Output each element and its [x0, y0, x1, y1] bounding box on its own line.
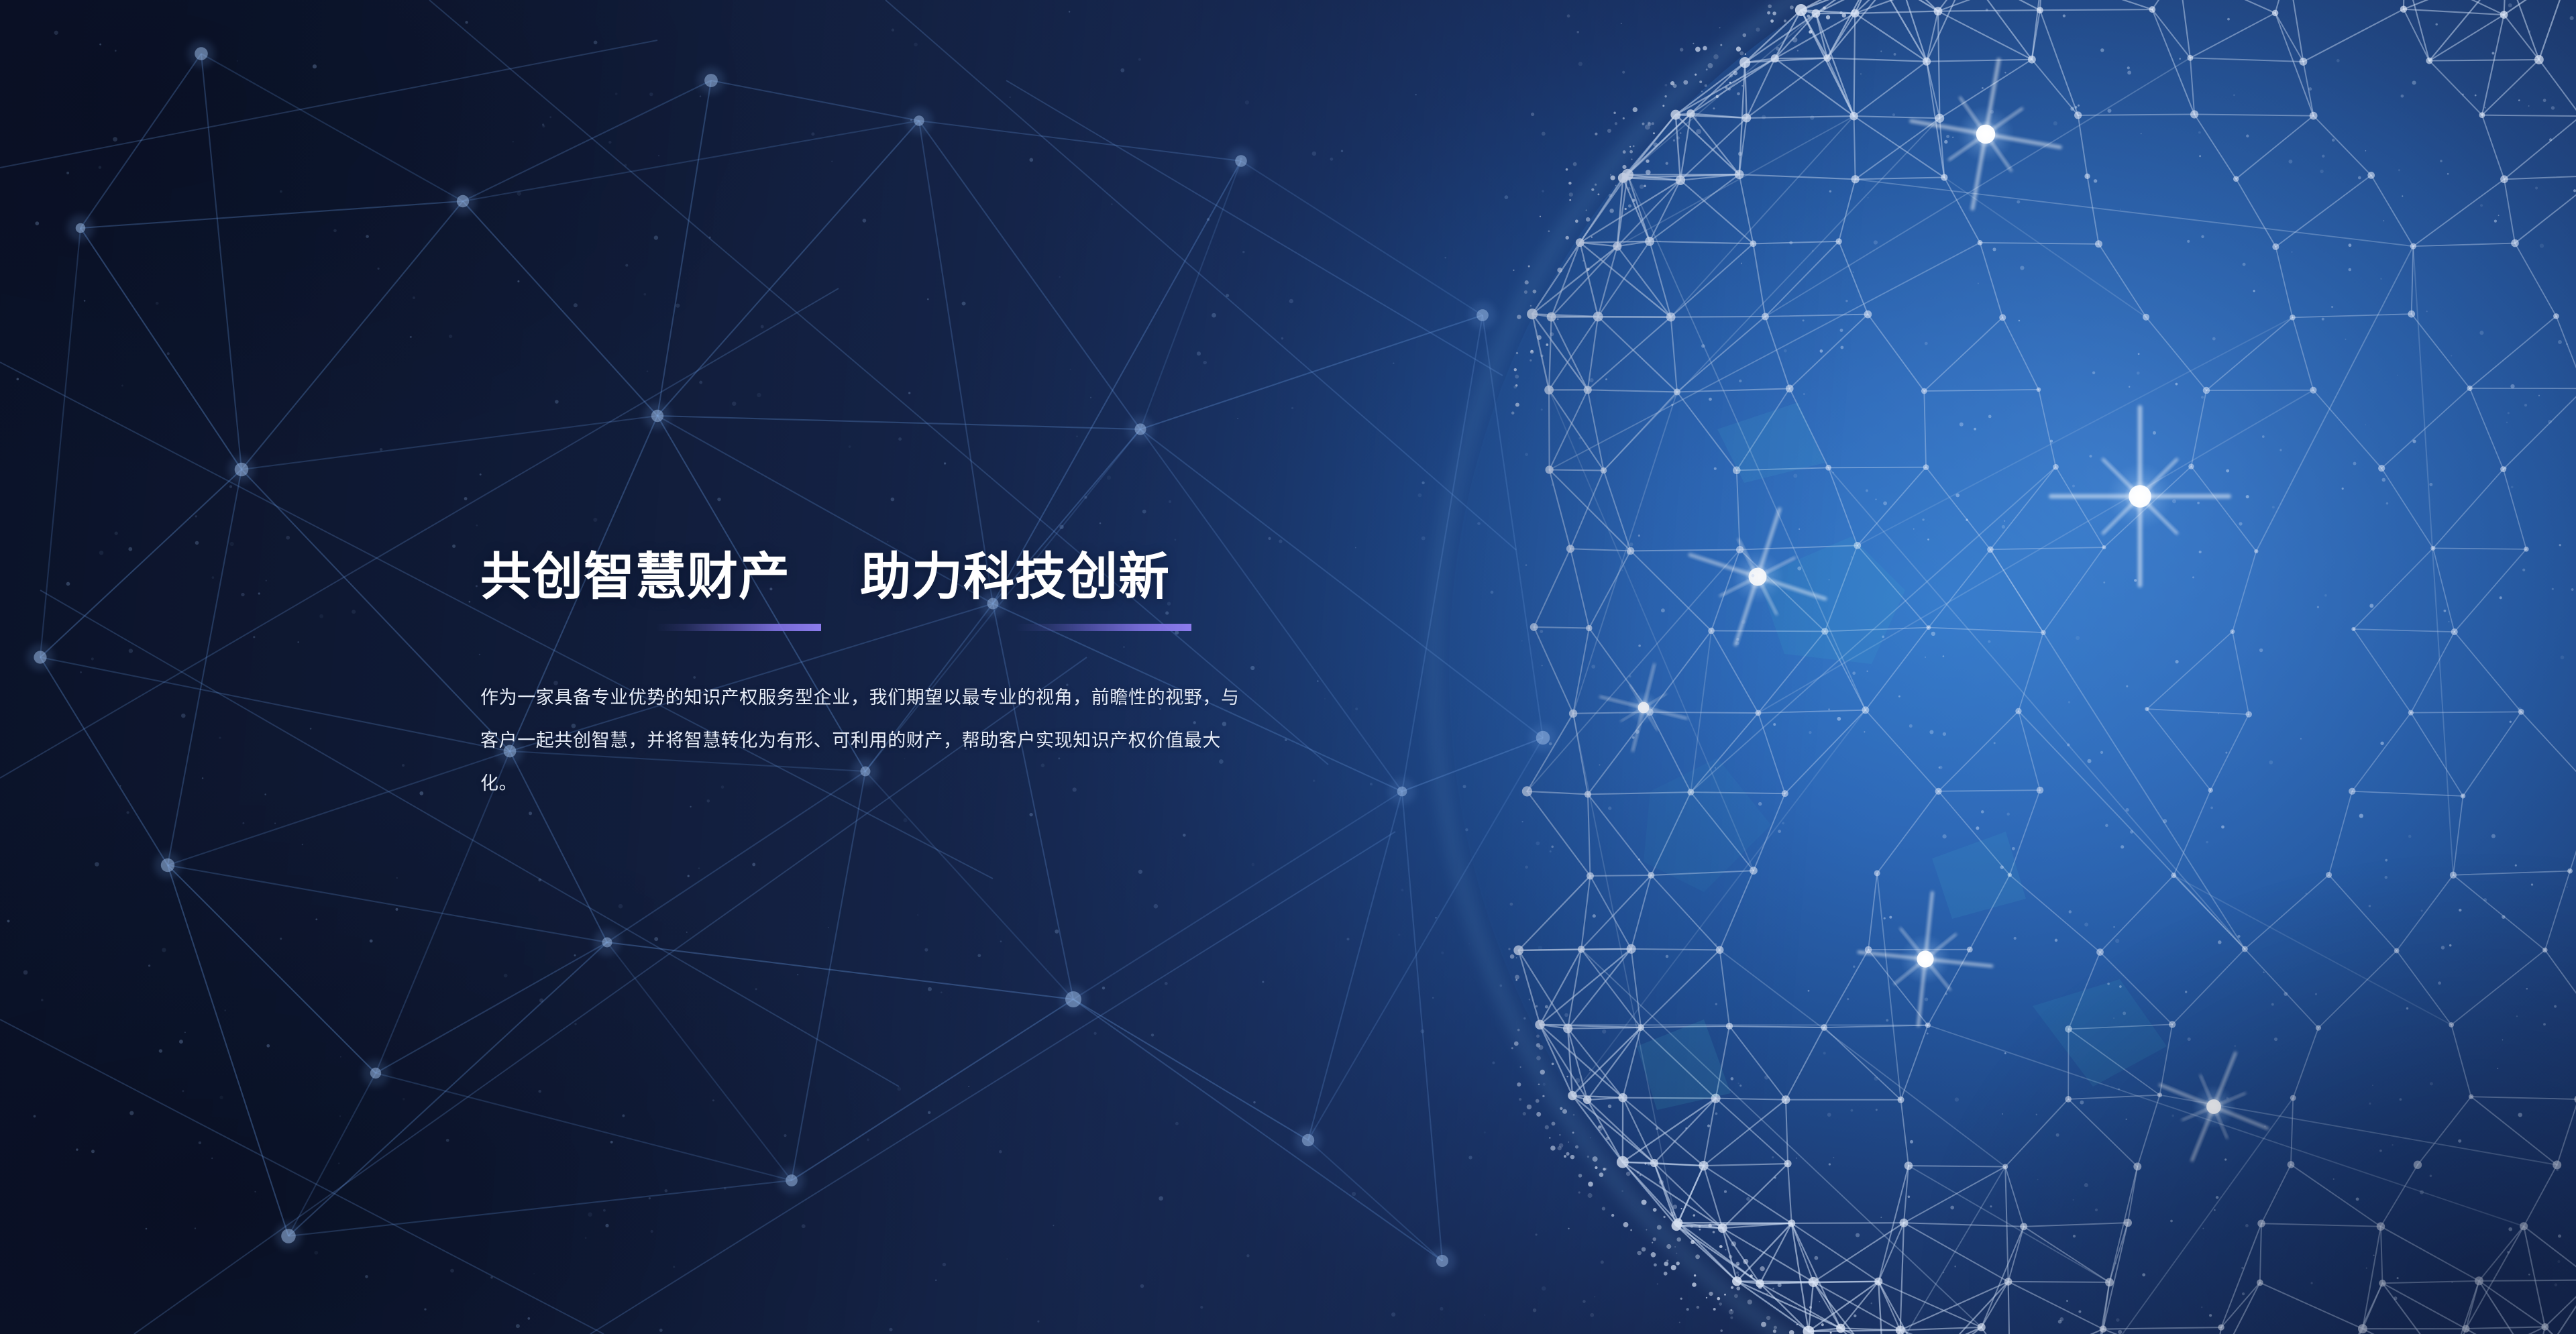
- hero-description: 作为一家具备专业优势的知识产权服务型企业，我们期望以最专业的视角，前瞻性的视野，…: [480, 677, 1245, 805]
- headline-group-1: 共创智慧财产: [480, 550, 790, 604]
- headline-text-1: 共创智慧财产: [480, 547, 790, 606]
- page-title: 共创智慧财产 助力科技创新: [480, 550, 1453, 604]
- headline-underline-accent-1: [656, 624, 821, 631]
- hero-banner: 共创智慧财产 助力科技创新 作为一家具备专业优势的知识产权服务型企业，我们期望以…: [0, 0, 2576, 1334]
- headline-group-2: 助力科技创新: [860, 550, 1170, 604]
- headline-underline-accent-2: [1016, 624, 1191, 631]
- headline-text-2: 助力科技创新: [860, 547, 1170, 606]
- hero-text-block: 共创智慧财产 助力科技创新 作为一家具备专业优势的知识产权服务型企业，我们期望以…: [480, 550, 1453, 824]
